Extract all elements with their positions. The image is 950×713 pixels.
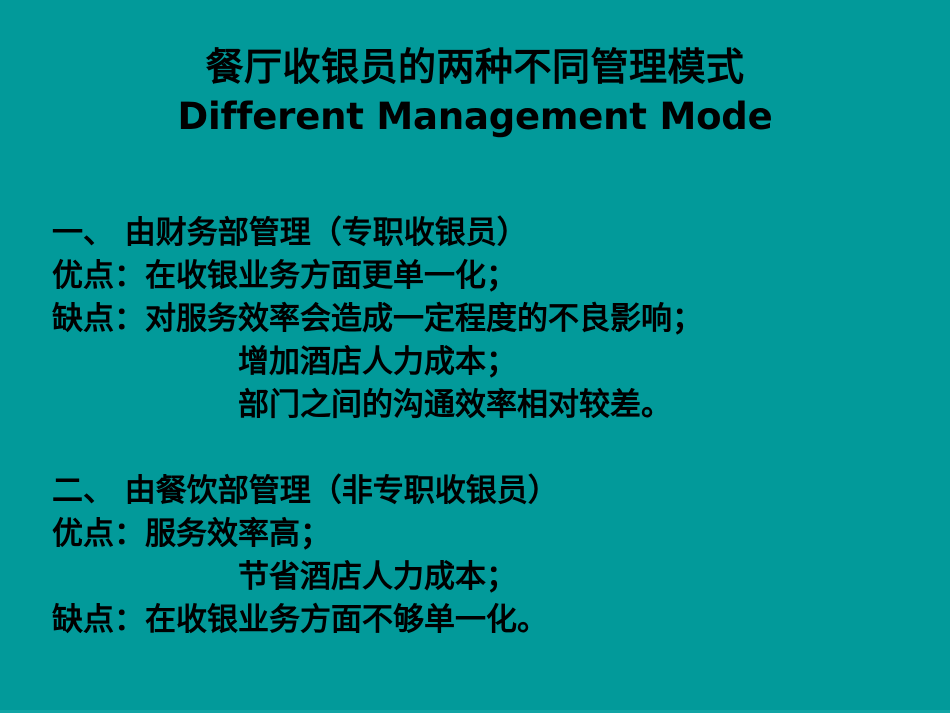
body-line: 一、 由财务部管理（专职收银员） [52, 212, 932, 255]
body-line: 增加酒店人力成本； [52, 341, 932, 384]
body-line-spacer [52, 427, 932, 470]
slide-body-block: 一、 由财务部管理（专职收银员）优点：在收银业务方面更单一化；缺点：对服务效率会… [52, 212, 932, 642]
body-line: 缺点：在收银业务方面不够单一化。 [52, 599, 932, 642]
slide-title-block: 餐厅收银员的两种不同管理模式 Different Management Mode [0, 42, 950, 142]
slide-title-chinese: 餐厅收银员的两种不同管理模式 [0, 42, 950, 92]
body-line: 优点：服务效率高； [52, 513, 932, 556]
body-line: 节省酒店人力成本； [52, 556, 932, 599]
slide-title-english: Different Management Mode [0, 92, 950, 142]
presentation-slide: 餐厅收银员的两种不同管理模式 Different Management Mode… [0, 0, 950, 713]
body-line: 二、 由餐饮部管理（非专职收银员） [52, 470, 932, 513]
body-line: 部门之间的沟通效率相对较差。 [52, 384, 932, 427]
body-line: 优点：在收银业务方面更单一化； [52, 255, 932, 298]
body-line: 缺点：对服务效率会造成一定程度的不良影响； [52, 298, 932, 341]
